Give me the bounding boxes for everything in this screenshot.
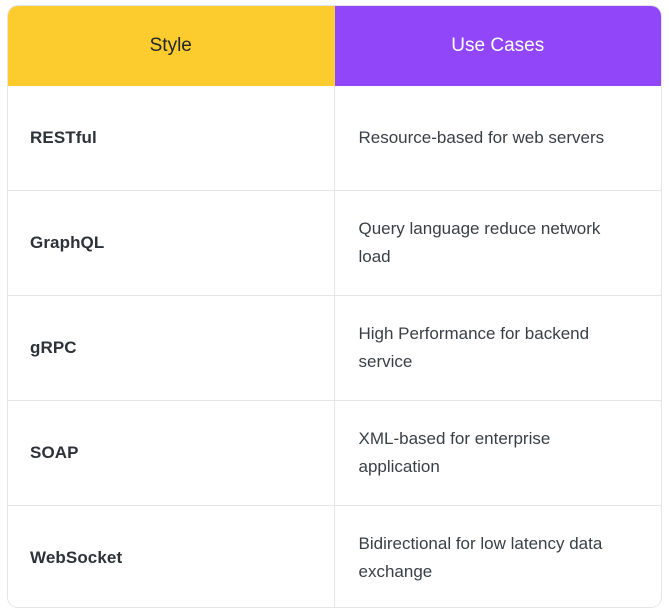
cell-style: gRPC bbox=[8, 296, 334, 401]
cell-use-case: Resource-based for web servers bbox=[334, 86, 661, 191]
use-case-text: XML-based for enterprise application bbox=[359, 425, 636, 480]
column-header-style: Style bbox=[8, 6, 334, 86]
table-body: RESTful Resource-based for web servers G… bbox=[8, 86, 661, 608]
style-name: gRPC bbox=[30, 338, 334, 358]
cell-use-case: XML-based for enterprise application bbox=[334, 401, 661, 506]
style-name: SOAP bbox=[30, 443, 334, 463]
table-row: WebSocket Bidirectional for low latency … bbox=[8, 506, 661, 609]
cell-style: WebSocket bbox=[8, 506, 334, 609]
cell-use-case: High Performance for backend service bbox=[334, 296, 661, 401]
cell-use-case: Query language reduce network load bbox=[334, 191, 661, 296]
table-header: Style Use Cases bbox=[8, 6, 661, 86]
table-row: GraphQL Query language reduce network lo… bbox=[8, 191, 661, 296]
use-case-text: High Performance for backend service bbox=[359, 320, 636, 375]
use-case-text: Query language reduce network load bbox=[359, 215, 636, 270]
table-row: gRPC High Performance for backend servic… bbox=[8, 296, 661, 401]
cell-style: GraphQL bbox=[8, 191, 334, 296]
api-styles-table: Style Use Cases RESTful Resource-based f… bbox=[8, 6, 661, 608]
column-header-use-cases: Use Cases bbox=[334, 6, 661, 86]
cell-style: RESTful bbox=[8, 86, 334, 191]
style-name: WebSocket bbox=[30, 548, 334, 568]
cell-style: SOAP bbox=[8, 401, 334, 506]
table-header-row: Style Use Cases bbox=[8, 6, 661, 86]
api-styles-table-container: Style Use Cases RESTful Resource-based f… bbox=[7, 5, 662, 608]
table-row: SOAP XML-based for enterprise applicatio… bbox=[8, 401, 661, 506]
use-case-text: Resource-based for web servers bbox=[359, 124, 636, 152]
style-name: RESTful bbox=[30, 128, 334, 148]
use-case-text: Bidirectional for low latency data excha… bbox=[359, 530, 636, 585]
style-name: GraphQL bbox=[30, 233, 334, 253]
table-row: RESTful Resource-based for web servers bbox=[8, 86, 661, 191]
cell-use-case: Bidirectional for low latency data excha… bbox=[334, 506, 661, 609]
